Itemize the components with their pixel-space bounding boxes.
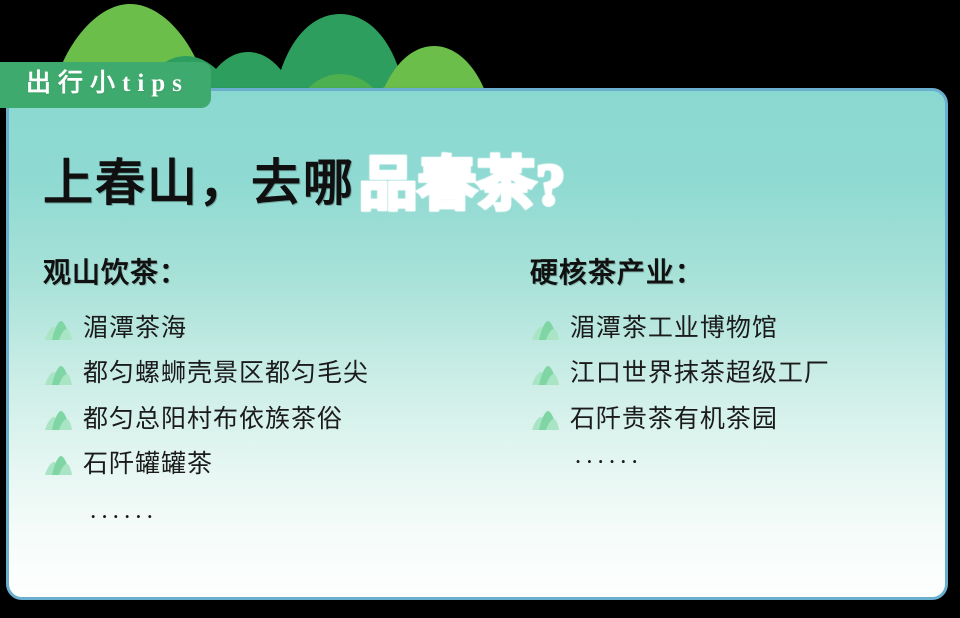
list-item-label: 石阡罐罐茶 (83, 449, 213, 480)
title-dark-text: 上春山，去哪 (43, 143, 355, 215)
content-columns: 观山饮茶： 湄潭茶海 (9, 251, 945, 532)
list-item-label: 都匀总阳村布依族茶俗 (83, 404, 343, 435)
mountain-bullet-icon (43, 363, 73, 385)
column-tea-industry: 硬核茶产业： 湄潭茶工业博物馆 (496, 251, 945, 532)
tea-list-left: 湄潭茶海 都匀螺蛳壳景区都匀毛尖 (43, 313, 496, 480)
mountain-bullet-icon (43, 453, 73, 475)
list-item-label: 江口世界抹茶超级工厂 (570, 358, 830, 389)
list-item[interactable]: 石阡罐罐茶 (43, 449, 496, 480)
tea-list-right: 湄潭茶工业博物馆 江口世界抹茶超级工厂 (530, 313, 945, 435)
tips-card: 上春山，去哪 品春茶? 观山饮茶： 湄潭茶海 (6, 88, 948, 600)
list-item-label: 湄潭茶工业博物馆 (570, 313, 778, 344)
mountain-bullet-icon (530, 408, 560, 430)
page-title: 上春山，去哪 品春茶? (43, 133, 566, 217)
column-scenic-tea: 观山饮茶： 湄潭茶海 (9, 251, 496, 532)
poster-canvas: 上春山，去哪 品春茶? 观山饮茶： 湄潭茶海 (0, 0, 960, 618)
mountain-bullet-icon (530, 363, 560, 385)
mountain-bullet-icon (530, 318, 560, 340)
list-item[interactable]: 江口世界抹茶超级工厂 (530, 358, 945, 389)
column-heading-left: 观山饮茶： (43, 251, 496, 291)
list-item[interactable]: 湄潭茶海 (43, 313, 496, 344)
list-item[interactable]: 石阡贵茶有机茶园 (530, 404, 945, 435)
title-brush-text: 品春茶? (359, 137, 566, 221)
list-item[interactable]: 湄潭茶工业博物馆 (530, 313, 945, 344)
tips-badge: 出行小tips (0, 62, 211, 108)
mountain-bullet-icon (43, 408, 73, 430)
list-item-label: 都匀螺蛳壳景区都匀毛尖 (83, 358, 369, 389)
list-item-label: 湄潭茶海 (83, 313, 187, 344)
mountain-bullet-icon (43, 318, 73, 340)
list-item[interactable]: 都匀总阳村布依族茶俗 (43, 404, 496, 435)
list-ellipsis-left: ······ (89, 504, 496, 532)
list-item-label: 石阡贵茶有机茶园 (570, 404, 778, 435)
column-heading-right: 硬核茶产业： (530, 251, 945, 291)
list-item[interactable]: 都匀螺蛳壳景区都匀毛尖 (43, 358, 496, 389)
list-ellipsis-right: ······ (574, 449, 945, 477)
